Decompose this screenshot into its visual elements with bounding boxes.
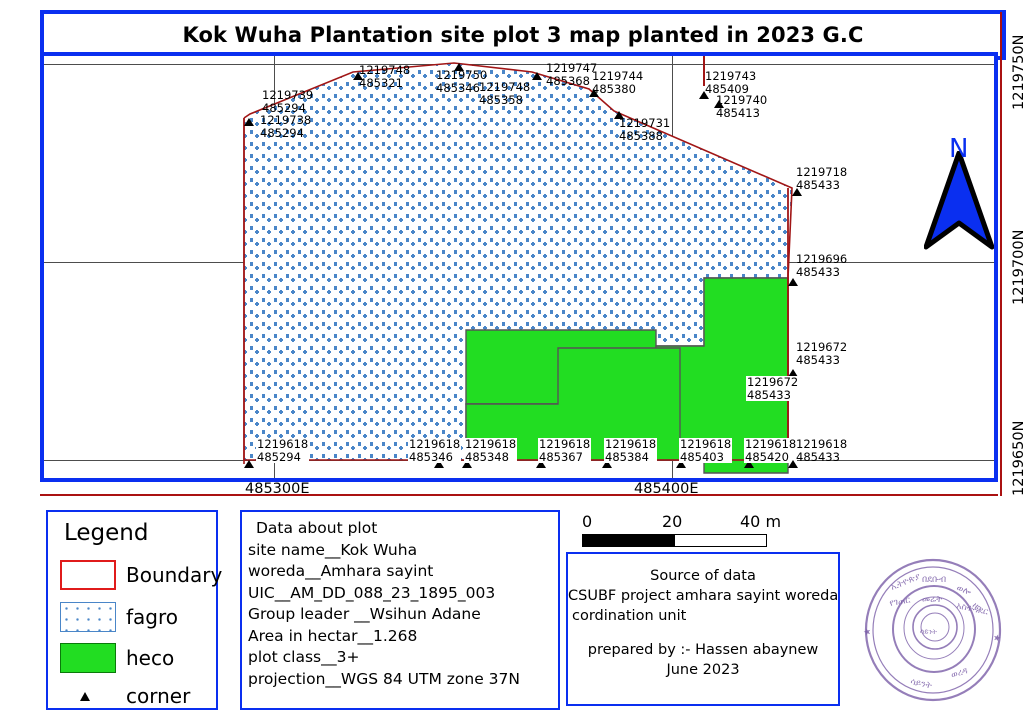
legend-label-fagro: fagro xyxy=(126,605,178,629)
coordinate-label: 1219696485433 xyxy=(796,253,847,278)
coordinate-northing: 1219618 xyxy=(409,437,460,451)
coordinate-label: 1219618485403 xyxy=(679,438,732,463)
coordinate-label: 1219738485294 xyxy=(260,114,311,139)
prepared-date-line: June 2023 xyxy=(568,660,838,680)
corner-marker xyxy=(788,278,798,286)
scale-bar-graphic xyxy=(582,534,767,547)
svg-text:★: ★ xyxy=(863,628,873,636)
data-panel-line-area: Area in hectar__1.268 xyxy=(248,626,558,648)
coordinate-label: 1219744485380 xyxy=(592,70,643,95)
coordinate-label: 1219748485321 xyxy=(359,64,410,89)
coordinate-easting: 485368 xyxy=(546,75,597,88)
coordinate-easting: 485433 xyxy=(796,354,847,367)
coordinate-northing: 1219739 xyxy=(262,88,313,102)
plot-data-panel: Data about plot site name__Kok Wuha wore… xyxy=(240,510,560,710)
scale-tick-20: 20 xyxy=(662,512,682,531)
coordinate-northing: 1219747 xyxy=(546,61,597,75)
legend-label-heco: heco xyxy=(126,646,174,670)
corner-marker xyxy=(244,118,254,126)
legend-item-fagro[interactable]: fagro xyxy=(60,602,178,632)
coordinate-northing: 1219718 xyxy=(796,165,847,179)
y-axis-label-1: 1219700N xyxy=(1011,230,1024,305)
legend-item-corner[interactable]: corner xyxy=(60,684,190,708)
coordinate-northing: 1219740 xyxy=(716,93,767,107)
coordinate-northing: 1219696 xyxy=(796,252,847,266)
coordinate-easting: 485433 xyxy=(747,389,798,402)
coordinate-northing: 1219618 xyxy=(796,437,847,451)
source-line-1: CSUBF project amhara sayint woreda xyxy=(568,586,838,606)
corner-marker xyxy=(532,72,542,80)
scale-tick-40: 40 m xyxy=(740,512,781,531)
svg-text:ወሎ: ወሎ xyxy=(955,583,972,597)
coordinate-easting: 485321 xyxy=(359,77,410,90)
coordinate-northing: 1219618 xyxy=(745,437,796,451)
svg-text:በደቡብ: በደቡብ xyxy=(922,575,946,585)
data-panel-line-site-name: site name__Kok Wuha xyxy=(248,540,558,562)
axis-right-rule xyxy=(1000,12,1002,496)
x-axis-label-1: 485400E xyxy=(634,481,699,497)
coordinate-label: 1219618485433 xyxy=(796,438,847,463)
north-arrow-icon xyxy=(924,151,994,251)
coordinate-easting: 485433 xyxy=(796,179,847,192)
coordinate-label: 1219672485433 xyxy=(746,376,799,401)
coordinate-label: 1219618485348 xyxy=(464,438,517,463)
legend-item-heco[interactable]: heco xyxy=(60,643,174,673)
coordinate-easting: 485380 xyxy=(592,83,643,96)
map-canvas-area[interactable]: 1219739485294121973848529412197484853211… xyxy=(44,56,994,478)
data-panel-line-plot-class: plot class__3+ xyxy=(248,647,558,669)
y-axis-label-2: 1219650N xyxy=(1011,421,1024,496)
legend-item-boundary[interactable]: Boundary xyxy=(60,560,222,590)
coordinate-label: 1219618485346 xyxy=(408,438,461,463)
svg-text:የገጠር: የገጠር xyxy=(889,595,911,608)
coordinate-northing: 1219744 xyxy=(592,69,643,83)
svg-text:★: ★ xyxy=(991,634,1001,642)
coordinate-northing: 1219618 xyxy=(605,437,656,451)
coordinate-easting: 485358 xyxy=(479,94,530,107)
data-panel-line-group-leader: Group leader __Wsihun Adane xyxy=(248,604,558,626)
y-axis-label-0: 1219750N xyxy=(1011,35,1024,110)
coordinate-northing: 1219618 xyxy=(257,437,308,451)
coordinate-label: 1219731485388 xyxy=(619,117,670,142)
coordinate-easting: 485346 xyxy=(409,451,460,464)
boundary-swatch-icon xyxy=(60,560,116,590)
coordinate-label: 1219618485294 xyxy=(256,438,309,463)
scale-tick-0: 0 xyxy=(582,512,592,531)
scale-bar-group: 0 20 40 m xyxy=(582,512,782,547)
coordinate-label: 1219740485413 xyxy=(716,94,767,119)
coordinate-northing: 1219618 xyxy=(680,437,731,451)
data-panel-line-woreda: woreda__Amhara sayint xyxy=(248,561,558,583)
coordinate-northing: 1219731 xyxy=(619,116,670,130)
source-panel: Source of data CSUBF project amhara sayi… xyxy=(566,552,840,706)
fagro-swatch-icon xyxy=(60,602,116,632)
data-panel-heading: Data about plot xyxy=(248,518,558,540)
coordinate-label: 1219718485433 xyxy=(796,166,847,191)
data-panel-line-projection: projection__WGS 84 UTM zone 37N xyxy=(248,669,558,691)
official-stamp-seal: ኢትዮጵያ በደቡብ ወሎ ዞን የገጠር መሬት አስተዳደር ሳይንት ወረ… xyxy=(860,556,1010,706)
corner-marker xyxy=(244,460,254,468)
coordinate-label: 1219672485433 xyxy=(796,341,847,366)
map-polygons xyxy=(44,56,994,478)
coordinate-label: 1219739485294 xyxy=(262,89,313,114)
coordinate-easting: 485348 xyxy=(465,451,516,464)
coordinate-northing: 1219672 xyxy=(747,375,798,389)
coordinate-easting: 485403 xyxy=(680,451,731,464)
coordinate-northing: 1219672 xyxy=(796,340,847,354)
legend-panel: Legend Boundary fagro heco corner xyxy=(46,510,218,710)
coordinate-easting: 485413 xyxy=(716,107,767,120)
source-line-2: cordination unit xyxy=(568,606,838,626)
source-heading: Source of data xyxy=(568,554,838,586)
coordinate-label: 1219747485368 xyxy=(546,62,597,87)
coordinate-label: 1219618485367 xyxy=(538,438,591,463)
coordinate-easting: 485294 xyxy=(260,127,311,140)
coordinate-easting: 485388 xyxy=(619,130,670,143)
svg-text:መሬት: መሬት xyxy=(922,595,942,605)
corner-triangle-icon xyxy=(60,687,116,705)
coordinate-northing: 1219748 xyxy=(359,63,410,77)
prepared-by-line: prepared by :- Hassen abaynew xyxy=(568,640,838,660)
svg-text:ሳይንት: ሳይንት xyxy=(920,628,937,636)
coordinate-easting: 485384 xyxy=(605,451,656,464)
scale-bar-filled-half xyxy=(583,535,675,546)
coordinate-easting: 485367 xyxy=(539,451,590,464)
legend-label-corner: corner xyxy=(126,684,190,708)
north-label: N xyxy=(949,134,968,164)
x-axis-label-0: 485300E xyxy=(245,481,310,497)
coordinate-northing: 1219618 xyxy=(465,437,516,451)
scale-bar-ticks: 0 20 40 m xyxy=(582,512,782,534)
coordinate-label: 1219618485384 xyxy=(604,438,657,463)
coordinate-northing: 1219748 xyxy=(479,80,530,94)
coordinate-easting: 485294 xyxy=(257,451,308,464)
coordinate-northing: 1219743 xyxy=(705,69,756,83)
legend-label-boundary: Boundary xyxy=(126,563,222,587)
coordinate-easting: 485433 xyxy=(796,266,847,279)
coordinate-easting: 485433 xyxy=(796,451,847,464)
data-panel-line-uic: UIC__AM_DD_088_23_1895_003 xyxy=(248,583,558,605)
legend-title: Legend xyxy=(64,520,149,546)
axis-bottom-rule xyxy=(40,494,998,496)
coordinate-northing: 1219738 xyxy=(260,113,311,127)
source-spacer xyxy=(568,626,838,640)
coordinate-label: 1219748485358 xyxy=(479,81,530,106)
coordinate-label: 1219743485409 xyxy=(705,70,756,95)
page-title: Kok Wuha Plantation site plot 3 map plan… xyxy=(183,23,864,47)
heco-swatch-icon xyxy=(60,643,116,673)
coordinate-northing: 1219618 xyxy=(539,437,590,451)
